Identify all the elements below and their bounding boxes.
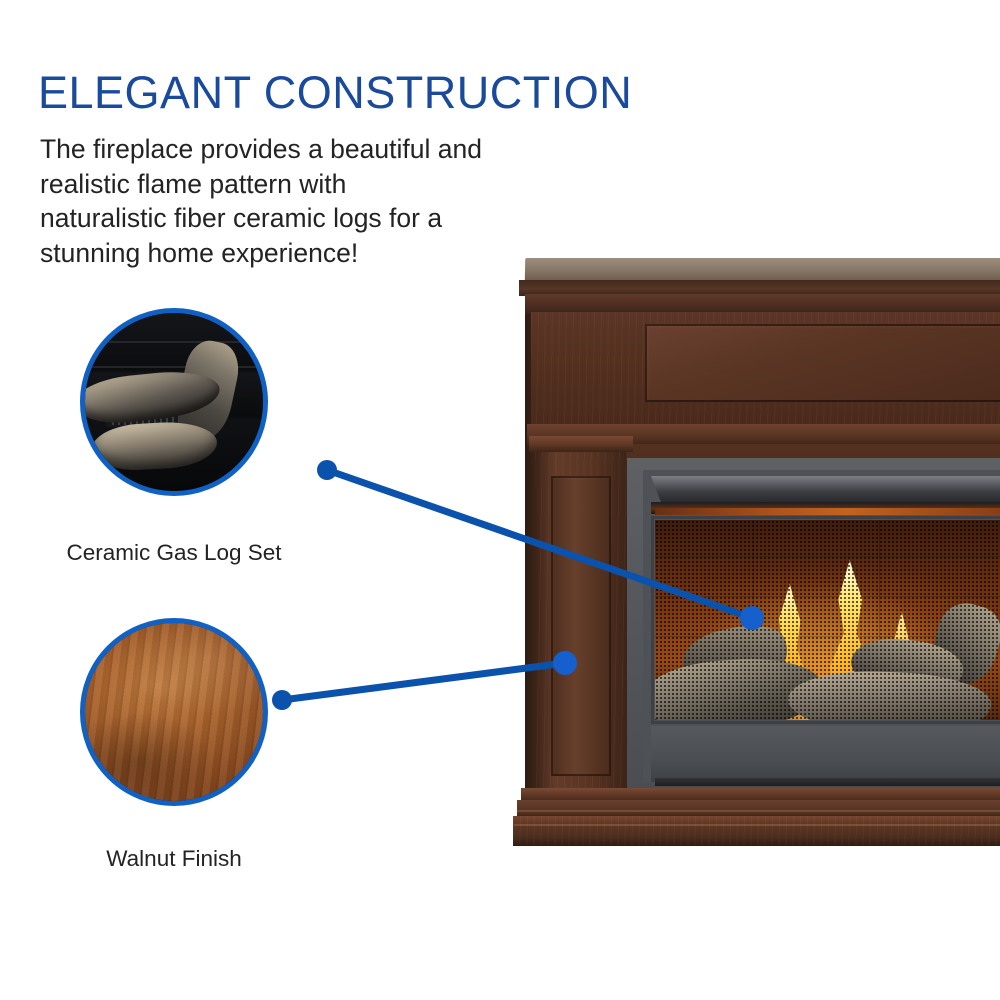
walnut-finish-thumbnail[interactable]	[80, 618, 268, 806]
firebox-lower-panel	[651, 726, 1000, 782]
mantel-crown-molding	[525, 294, 1000, 314]
ceramic-log	[91, 420, 218, 473]
base-highlight-line	[515, 810, 1000, 812]
walnut-leader-start-dot	[272, 690, 292, 710]
description-line-1: The fireplace provides a beautiful and	[40, 132, 620, 167]
firebox-hood	[651, 476, 1000, 504]
page-title: ELEGANT CONSTRUCTION	[38, 70, 632, 115]
walnut-wood-swatch	[85, 623, 263, 801]
log-set-photo	[85, 313, 263, 491]
firebox-brick-line	[85, 341, 263, 343]
base-highlight-line	[514, 824, 1000, 826]
base-plinth	[513, 816, 1000, 846]
mantel-top-slab	[525, 258, 1000, 282]
recessed-upper-panel	[645, 324, 1000, 402]
infographic-canvas: ELEGANT CONSTRUCTION The fireplace provi…	[0, 0, 1000, 1000]
pilaster-capital	[529, 436, 633, 452]
fireplace-product-image	[505, 258, 1000, 850]
ceramic-log-set-thumbnail[interactable]	[80, 308, 268, 496]
firebox-bottom-lip	[655, 778, 1000, 786]
pilaster-inset-panel	[551, 476, 611, 776]
base-grain-texture	[513, 816, 1000, 846]
firebox-glow-strip	[655, 508, 1000, 515]
description-paragraph: The fireplace provides a beautiful and r…	[40, 132, 620, 270]
log-set-leader-start-dot	[317, 460, 337, 480]
description-line-2: realistic flame pattern with	[40, 167, 620, 202]
walnut-finish-caption: Walnut Finish	[24, 846, 324, 872]
description-line-3: naturalistic fiber ceramic logs for a	[40, 201, 620, 236]
ceramic-log-set-caption: Ceramic Gas Log Set	[24, 540, 324, 566]
mesh-screen	[651, 516, 1000, 724]
